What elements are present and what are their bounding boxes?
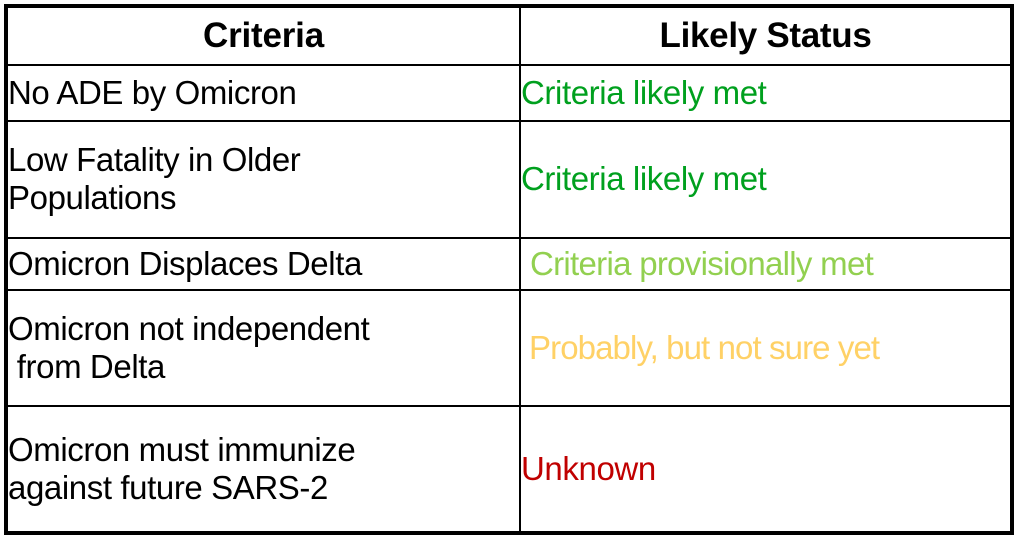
criteria-line: Omicron Displaces Delta	[8, 245, 519, 283]
criteria-cell: Omicron must immunize against future SAR…	[6, 406, 520, 533]
table-row: Omicron Displaces Delta Criteria provisi…	[6, 238, 1012, 290]
criteria-line: Low Fatality in Older	[8, 141, 519, 179]
table-row: No ADE by Omicron Criteria likely met	[6, 65, 1012, 121]
table-body: No ADE by Omicron Criteria likely met Lo…	[6, 65, 1012, 533]
status-badge: Criteria likely met	[521, 160, 766, 197]
criteria-text: Omicron Displaces Delta	[8, 245, 519, 283]
criteria-text: No ADE by Omicron	[8, 74, 519, 112]
status-cell: Probably, but not sure yet	[520, 290, 1012, 406]
table-header-row: Criteria Likely Status	[6, 6, 1012, 65]
criteria-line: Omicron not independent	[8, 310, 519, 348]
status-cell: Criteria likely met	[520, 121, 1012, 239]
status-badge: Criteria provisionally met	[530, 245, 873, 282]
criteria-line: Populations	[8, 179, 519, 217]
criteria-line: Omicron must immunize	[8, 431, 519, 469]
column-header-likely-status: Likely Status	[520, 6, 1012, 65]
status-badge: Unknown	[521, 450, 656, 487]
table-row: Low Fatality in Older Populations Criter…	[6, 121, 1012, 239]
criteria-cell: No ADE by Omicron	[6, 65, 520, 121]
criteria-text: Omicron must immunize against future SAR…	[8, 431, 519, 508]
status-badge: Probably, but not sure yet	[529, 329, 879, 366]
criteria-cell: Omicron Displaces Delta	[6, 238, 520, 290]
page-root: Criteria Likely Status No ADE by Omicron…	[0, 0, 1022, 543]
criteria-status-table: Criteria Likely Status No ADE by Omicron…	[4, 4, 1014, 535]
status-cell: Criteria provisionally met	[520, 238, 1012, 290]
status-badge: Criteria likely met	[521, 74, 766, 111]
status-cell: Unknown	[520, 406, 1012, 533]
table-row: Omicron not independent from Delta Proba…	[6, 290, 1012, 406]
column-header-criteria: Criteria	[6, 6, 520, 65]
criteria-cell: Low Fatality in Older Populations	[6, 121, 520, 239]
criteria-text: Low Fatality in Older Populations	[8, 141, 519, 218]
table-header: Criteria Likely Status	[6, 6, 1012, 65]
table-row: Omicron must immunize against future SAR…	[6, 406, 1012, 533]
criteria-line: from Delta	[8, 348, 519, 386]
status-cell: Criteria likely met	[520, 65, 1012, 121]
criteria-line: No ADE by Omicron	[8, 74, 519, 112]
criteria-cell: Omicron not independent from Delta	[6, 290, 520, 406]
criteria-text: Omicron not independent from Delta	[8, 310, 519, 387]
criteria-line: against future SARS-2	[8, 469, 519, 507]
